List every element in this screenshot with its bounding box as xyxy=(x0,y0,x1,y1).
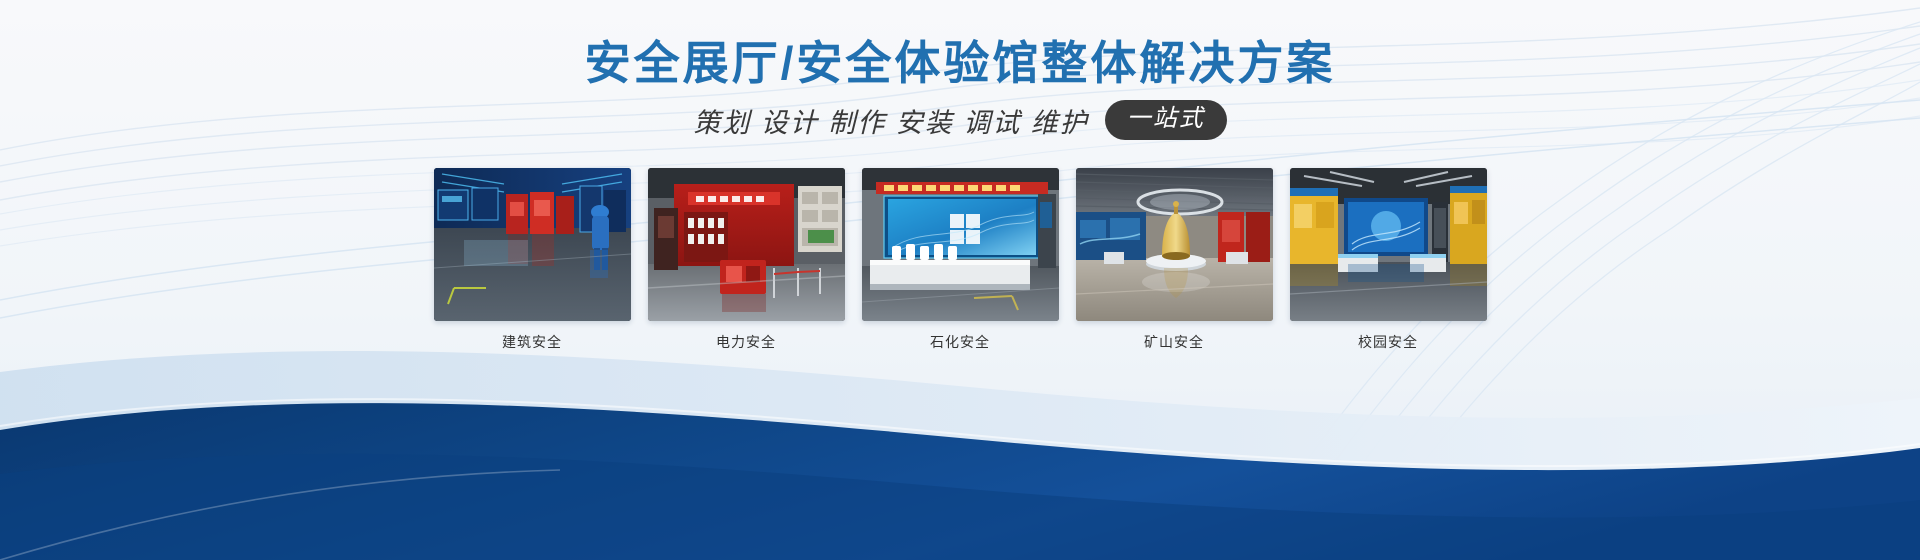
campus-hall-illustration xyxy=(1290,168,1487,321)
thumbnail-caption: 校园安全 xyxy=(1290,332,1487,352)
thumbnail-gallery: 建筑安全 xyxy=(0,168,1920,352)
thumbnail-caption: 建筑安全 xyxy=(434,332,631,352)
subtitle-text: 策划 设计 制作 安装 调试 维护 xyxy=(693,101,1089,140)
thumbnail-image-petrochemical[interactable] xyxy=(862,168,1059,321)
thumbnail-image-campus[interactable] xyxy=(1290,168,1487,321)
promo-banner: 安全展厅/安全体验馆整体解决方案 策划 设计 制作 安装 调试 维护 一站式 xyxy=(0,0,1920,560)
subtitle-row: 策划 设计 制作 安装 调试 维护 一站式 xyxy=(0,100,1920,140)
construction-hall-illustration xyxy=(434,168,631,321)
thumbnail-caption: 电力安全 xyxy=(648,332,845,352)
thumbnail-caption: 石化安全 xyxy=(862,332,1059,352)
status-badge: 一站式 xyxy=(1105,100,1227,140)
thumbnail-caption: 矿山安全 xyxy=(1076,332,1273,352)
mining-hall-illustration xyxy=(1076,168,1273,321)
thumbnail-image-construction[interactable] xyxy=(434,168,631,321)
power-hall-illustration xyxy=(648,168,845,321)
thumbnail-image-mining[interactable] xyxy=(1076,168,1273,321)
thumbnail-item-petrochemical[interactable]: 石化安全 xyxy=(862,168,1059,352)
thumbnail-item-mining[interactable]: 矿山安全 xyxy=(1076,168,1273,352)
thumbnail-item-power[interactable]: 电力安全 xyxy=(648,168,845,352)
thumbnail-item-campus[interactable]: 校园安全 xyxy=(1290,168,1487,352)
thumbnail-image-power[interactable] xyxy=(648,168,845,321)
petrochemical-hall-illustration xyxy=(862,168,1059,321)
page-title: 安全展厅/安全体验馆整体解决方案 xyxy=(0,27,1920,93)
thumbnail-item-construction[interactable]: 建筑安全 xyxy=(434,168,631,352)
